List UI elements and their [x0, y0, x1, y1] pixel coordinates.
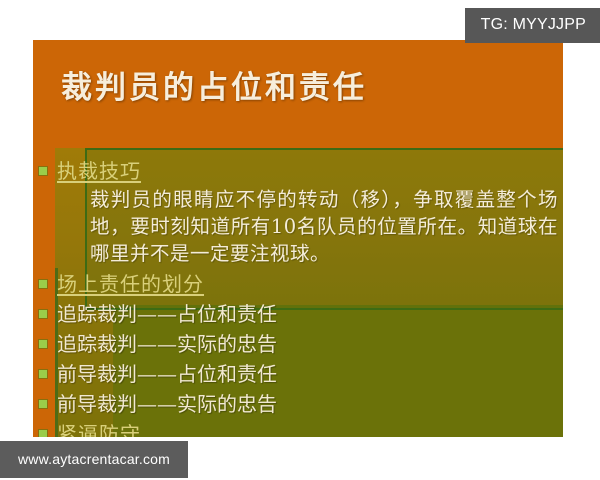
square-bullet-icon — [39, 310, 47, 318]
page-title: 裁判员的占位和责任 — [61, 62, 367, 107]
bullet-label: 追踪裁判——实际的忠告 — [57, 331, 277, 358]
bullet-item-3[interactable]: 追踪裁判——实际的忠告 — [39, 331, 277, 358]
presentation-slide: 裁判员的占位和责任 执裁技巧 裁判员的眼睛应不停的转动（移），争取覆盖整个场地，… — [33, 40, 563, 437]
bullet-label: 紧逼防守 — [57, 421, 141, 437]
bullet-label: 场上责任的划分 — [57, 271, 204, 298]
bullet-item-1[interactable]: 场上责任的划分 — [39, 271, 204, 298]
bullet-label: 前导裁判——实际的忠告 — [57, 391, 277, 418]
square-bullet-icon — [39, 370, 47, 378]
bullet-item-4[interactable]: 前导裁判——占位和责任 — [39, 361, 277, 388]
square-bullet-icon — [39, 280, 47, 288]
bullet-label: 前导裁判——占位和责任 — [57, 361, 277, 388]
bullet-label: 执裁技巧 — [57, 158, 141, 185]
site-watermark: www.aytacrentacar.com — [0, 441, 188, 478]
body-paragraph: 裁判员的眼睛应不停的转动（移），争取覆盖整个场地，要时刻知道所有10名队员的位置… — [90, 186, 558, 267]
square-bullet-icon — [39, 400, 47, 408]
bullet-item-0[interactable]: 执裁技巧 — [39, 158, 141, 185]
telegram-watermark-badge: TG: MYYJJPP — [465, 8, 600, 43]
square-bullet-icon — [39, 167, 47, 175]
bullet-item-5[interactable]: 前导裁判——实际的忠告 — [39, 391, 277, 418]
square-bullet-icon — [39, 430, 47, 437]
bullet-label: 追踪裁判——占位和责任 — [57, 301, 277, 328]
bullet-item-6[interactable]: 紧逼防守 — [39, 421, 141, 437]
square-bullet-icon — [39, 340, 47, 348]
bullet-item-2[interactable]: 追踪裁判——占位和责任 — [39, 301, 277, 328]
slide-content: 裁判员的占位和责任 执裁技巧 裁判员的眼睛应不停的转动（移），争取覆盖整个场地，… — [33, 40, 563, 437]
